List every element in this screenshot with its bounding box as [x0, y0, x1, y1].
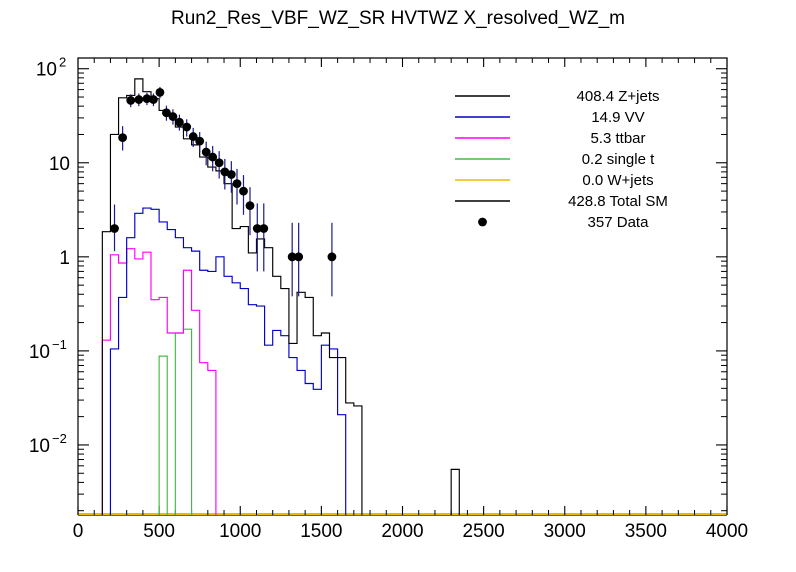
x-tick-label-2: 1000: [219, 521, 261, 542]
svg-text:10: 10: [29, 342, 50, 363]
page-title: Run2_Res_VBF_WZ_SR HVTWZ X_resolved_WZ_m: [171, 8, 625, 29]
svg-text:2: 2: [59, 55, 66, 70]
legend-label: 14.9 VV: [591, 109, 644, 126]
x-tick-label-4: 2000: [381, 521, 423, 542]
svg-text:10: 10: [49, 154, 70, 175]
x-tick-label-1: 500: [143, 521, 175, 542]
x-tick-label-0: 0: [73, 521, 84, 542]
svg-text:−1: −1: [52, 337, 67, 352]
legend-label: 5.3 ttbar: [590, 130, 645, 147]
svg-text:10: 10: [29, 436, 50, 457]
x-tick-label-7: 3500: [625, 521, 667, 542]
legend-label: 0.2 single t: [582, 151, 655, 168]
svg-text:−2: −2: [52, 431, 67, 446]
legend-label: 357 Data: [588, 214, 650, 231]
legend-label: 408.4 Z+jets: [577, 88, 660, 105]
x-tick-label-8: 4000: [706, 521, 748, 542]
x-tick-label-6: 3000: [544, 521, 586, 542]
legend-label: 0.0 W+jets: [582, 172, 653, 189]
svg-text:10: 10: [36, 60, 57, 81]
x-axis-labels: 05001000150020002500300035004000: [73, 521, 748, 542]
root-plot-svg: Run2_Res_VBF_WZ_SR HVTWZ X_resolved_WZ_m…: [0, 0, 796, 572]
y-tick-label-2: 1: [59, 248, 70, 269]
y-tick-label-1: 10: [49, 154, 70, 175]
plot-canvas: Run2_Res_VBF_WZ_SR HVTWZ X_resolved_WZ_m…: [0, 0, 796, 572]
svg-text:1: 1: [59, 248, 70, 269]
x-tick-label-5: 2500: [462, 521, 504, 542]
legend-swatch-marker: [478, 218, 487, 227]
legend-label: 428.8 Total SM: [568, 193, 668, 210]
x-tick-label-3: 1500: [300, 521, 342, 542]
canvas-background: [0, 0, 796, 572]
